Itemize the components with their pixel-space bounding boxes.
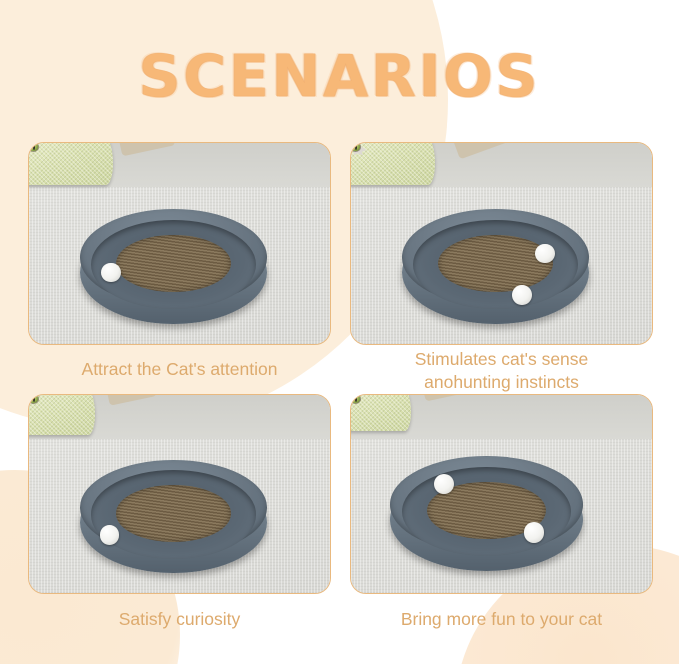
toy-ball xyxy=(512,285,532,305)
toy-ball xyxy=(101,263,121,283)
scenario-card-satisfy-curiosity[interactable] xyxy=(28,394,331,594)
cardboard-scratch-pad xyxy=(116,235,231,292)
scenario-card-stimulate-hunting[interactable] xyxy=(350,142,653,345)
scenario-caption-1: Attract the Cat's attention xyxy=(28,358,331,381)
green-cushion-icon xyxy=(28,142,113,185)
scenario-card-bring-more-fun[interactable] xyxy=(350,394,653,594)
toy-ball xyxy=(100,525,120,545)
toy-track xyxy=(91,470,255,558)
scenario-caption-2: Stimulates cat's sense anohunting instin… xyxy=(350,348,653,394)
scenario-card-attract-attention[interactable] xyxy=(28,142,331,345)
green-cushion-icon xyxy=(28,394,95,435)
scratcher-toy xyxy=(80,460,267,573)
cat-nose xyxy=(351,395,357,399)
page-title-wrap: SCENARIOS xyxy=(0,42,679,110)
cat-nose xyxy=(29,143,35,147)
toy-track xyxy=(91,220,255,309)
scenario-caption-4: Bring more fun to your cat xyxy=(350,608,653,631)
cardboard-scratch-pad xyxy=(438,235,553,292)
toy-track xyxy=(413,220,577,309)
scenario-photo-1 xyxy=(28,142,331,345)
cat-nose xyxy=(351,143,357,147)
page-title: SCENARIOS xyxy=(139,42,541,110)
toy-track xyxy=(402,467,572,557)
scenario-photo-2 xyxy=(350,142,653,345)
scratcher-toy xyxy=(402,209,589,324)
scenario-photo-4 xyxy=(350,394,653,594)
scenario-caption-3: Satisfy curiosity xyxy=(28,608,331,631)
scenario-photo-3 xyxy=(28,394,331,594)
cat-nose xyxy=(29,395,35,399)
scratcher-toy xyxy=(390,456,583,571)
cardboard-scratch-pad xyxy=(116,485,231,541)
toy-ball xyxy=(535,244,555,264)
toy-ball xyxy=(524,522,544,542)
scratcher-toy xyxy=(80,209,267,324)
